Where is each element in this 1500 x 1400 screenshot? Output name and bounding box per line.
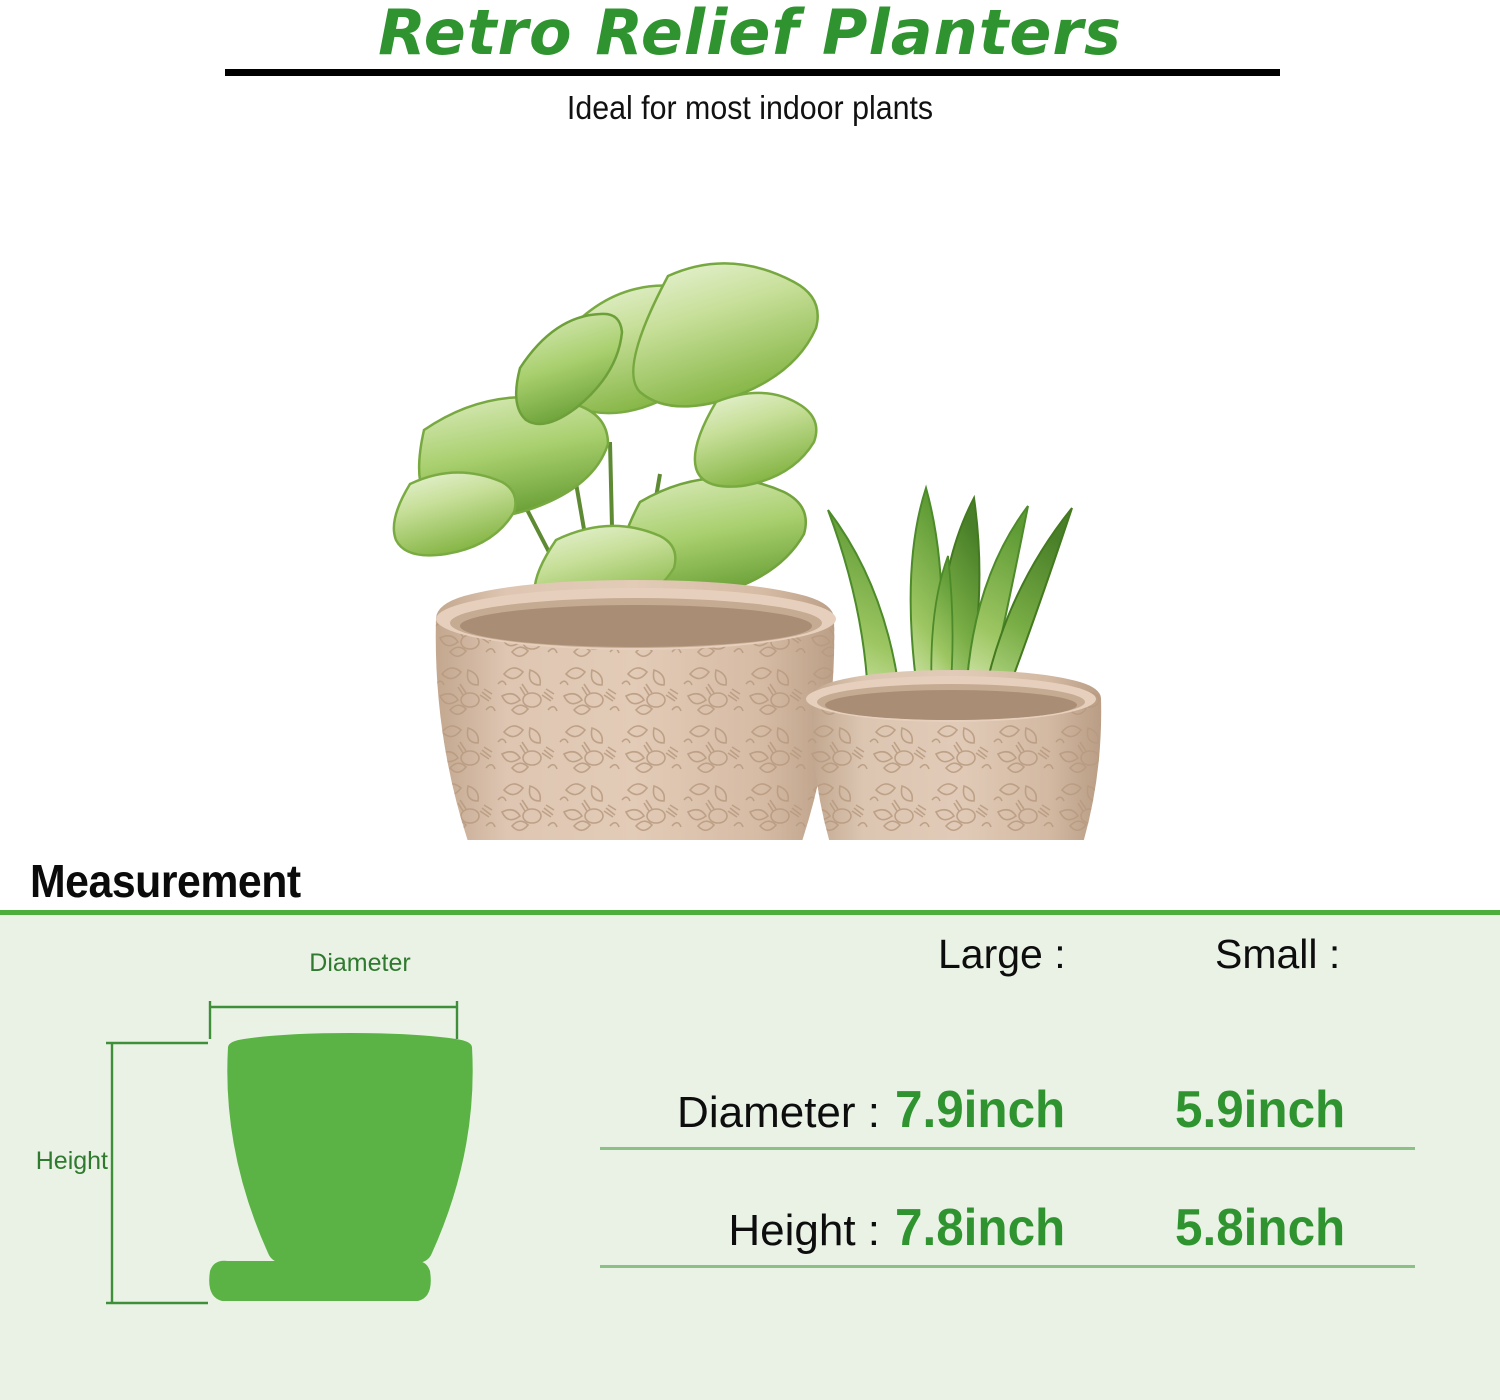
- table-column-header-small: Small :: [1215, 930, 1340, 978]
- diagram-pot-body: [227, 1033, 472, 1263]
- dimension-diagram-svg: [60, 955, 520, 1315]
- table-row-label-height: Height :: [590, 1203, 880, 1259]
- product-photo: [0, 140, 1500, 840]
- table-column-header-large: Large :: [938, 930, 1066, 978]
- dimension-diagram: Diameter Height: [60, 955, 520, 1315]
- large-planter-group: [394, 263, 840, 840]
- table-row-underline: [600, 1147, 1415, 1150]
- small-pot-opening: [825, 690, 1077, 720]
- height-dimension-line: [106, 1043, 208, 1303]
- table-row-underline: [600, 1265, 1415, 1268]
- header-banner: Retro Relief Planters Ideal for most ind…: [0, 0, 1500, 140]
- diagram-height-label: Height: [8, 1145, 108, 1177]
- diagram-diameter-label: Diameter: [250, 947, 470, 979]
- page-subtitle: Ideal for most indoor plants: [60, 86, 1440, 130]
- table-row-label-diameter: Diameter :: [590, 1085, 880, 1141]
- table-value-diameter-large: 7.9inch: [895, 1079, 1065, 1141]
- measurement-heading: Measurement: [30, 855, 301, 907]
- arrowhead-leaves: [394, 263, 818, 618]
- large-pot-opening: [460, 605, 812, 647]
- table-value-height-small: 5.8inch: [1175, 1197, 1345, 1259]
- page-title: Retro Relief Planters: [0, 0, 1500, 70]
- title-divider: [225, 69, 1280, 76]
- snake-plant: [828, 488, 1072, 696]
- table-value-diameter-small: 5.9inch: [1175, 1079, 1345, 1141]
- diagram-pot-saucer: [209, 1261, 431, 1301]
- small-planter-group: [806, 488, 1116, 840]
- product-photo-illustration: [0, 140, 1500, 840]
- table-value-height-large: 7.8inch: [895, 1197, 1065, 1259]
- measurement-table: Large : Small : Diameter : 7.9inch 5.9in…: [590, 930, 1450, 1290]
